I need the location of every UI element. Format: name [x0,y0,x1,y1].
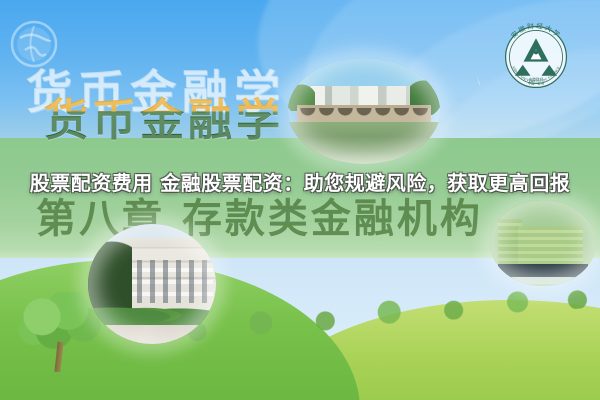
photo-bridge-deck [297,105,431,110]
svg-text:中国 · 蚌埠: 中国 · 蚌埠 [528,81,545,86]
photo-cityscape [294,86,434,107]
photo-sky [490,200,596,286]
photo-sky [88,224,216,272]
university-seal: 安徽财经大学 ANHUI UNIVERSITY OF FINANCE 安徽财经 … [497,18,575,96]
overlay-caption: 股票配资费用 金融股票配资：助您规避风险，获取更高回报 [0,168,600,199]
photo-sky [288,58,440,103]
photo-building-base [498,264,587,279]
slide-title: 货币金融学 [44,84,284,148]
photo-tower [498,219,521,269]
modern-building-photo [490,200,596,286]
banner-image: 货币金融学 货币金融学 安徽财经大学 [0,0,600,400]
photo-building-windows [124,260,214,303]
photo-trees-right [410,79,440,115]
photo-river-water [288,122,440,164]
photo-plaza [501,277,588,284]
photo-main-block [518,226,584,267]
photo-trees-left [288,83,315,111]
photo-trees [88,234,132,316]
campus-building-photo [88,224,216,344]
photo-bridge-arches [297,108,431,123]
photo-building [121,238,216,312]
photo-hedges [93,301,213,327]
photo-pathway [88,325,216,344]
bridge-river-photo [288,58,440,164]
